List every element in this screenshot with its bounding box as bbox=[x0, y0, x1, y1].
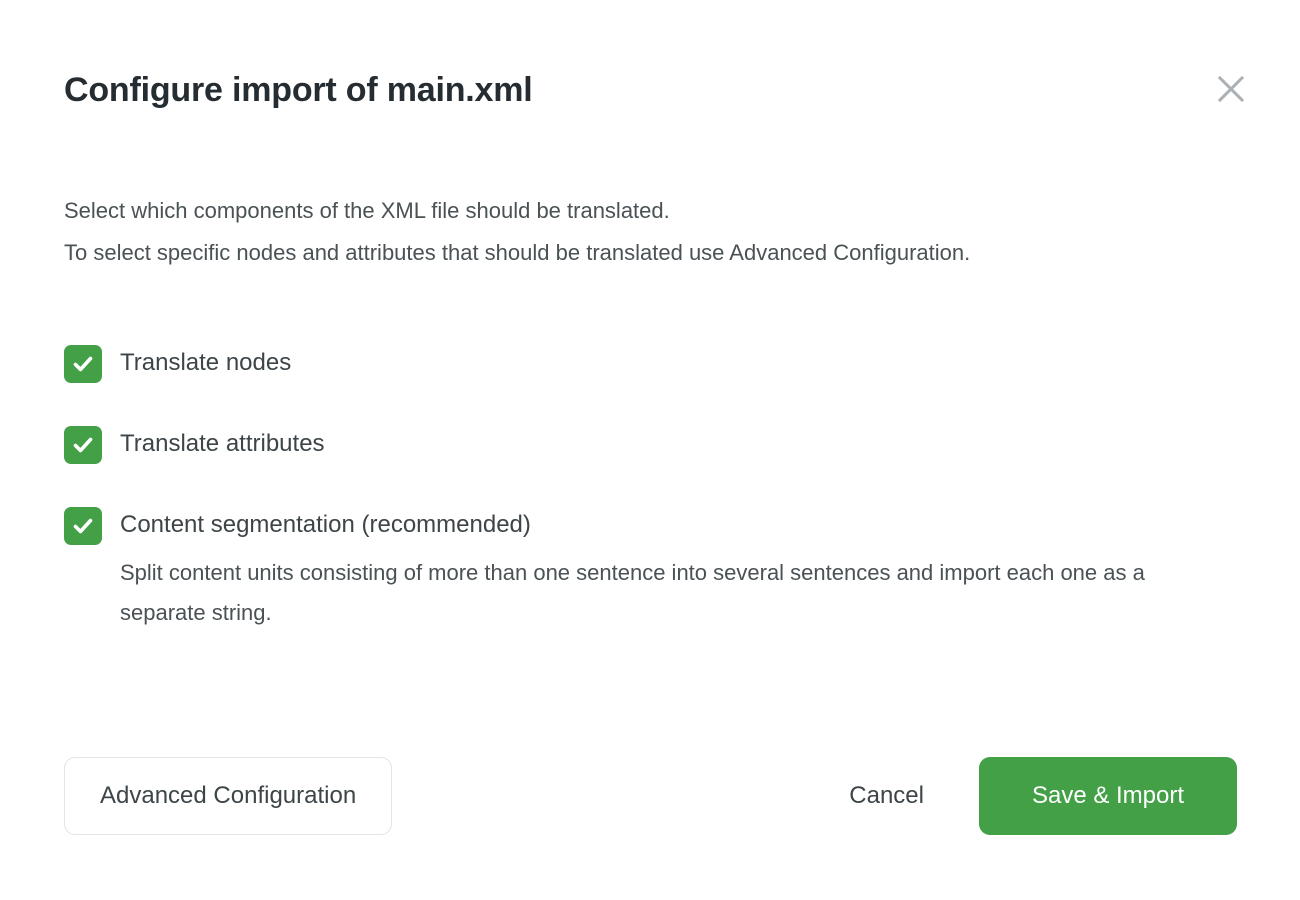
advanced-configuration-button[interactable]: Advanced Configuration bbox=[64, 757, 392, 835]
description-line-2: To select specific nodes and attributes … bbox=[64, 232, 1104, 274]
option-content-segmentation-row[interactable]: Content segmentation (recommended) bbox=[64, 506, 1244, 545]
option-translate-nodes[interactable]: Translate nodes bbox=[64, 344, 1244, 383]
option-label-translate-nodes[interactable]: Translate nodes bbox=[120, 344, 291, 382]
dialog-footer: Advanced Configuration Cancel Save & Imp… bbox=[64, 757, 1237, 835]
page-title: Configure import of main.xml bbox=[64, 66, 1236, 114]
checkbox-content-segmentation[interactable] bbox=[64, 507, 102, 545]
dialog-header: Configure import of main.xml bbox=[64, 66, 1236, 122]
checkbox-translate-nodes[interactable] bbox=[64, 345, 102, 383]
description-line-1: Select which components of the XML file … bbox=[64, 190, 1104, 232]
option-content-segmentation: Content segmentation (recommended) Split… bbox=[64, 506, 1244, 633]
dialog-description: Select which components of the XML file … bbox=[64, 190, 1104, 274]
check-icon bbox=[71, 514, 95, 538]
option-help-content-segmentation: Split content units consisting of more t… bbox=[120, 553, 1220, 633]
close-icon bbox=[1216, 74, 1246, 104]
option-translate-attributes[interactable]: Translate attributes bbox=[64, 425, 1244, 464]
checkbox-translate-attributes[interactable] bbox=[64, 426, 102, 464]
check-icon bbox=[71, 352, 95, 376]
cancel-button[interactable]: Cancel bbox=[849, 757, 924, 835]
save-and-import-button[interactable]: Save & Import bbox=[979, 757, 1237, 835]
check-icon bbox=[71, 433, 95, 457]
footer-actions: Cancel Save & Import bbox=[849, 757, 1237, 835]
option-label-translate-attributes[interactable]: Translate attributes bbox=[120, 425, 325, 463]
option-label-content-segmentation[interactable]: Content segmentation (recommended) bbox=[120, 506, 531, 544]
close-button[interactable] bbox=[1208, 66, 1254, 112]
options-list: Translate nodes Translate attributes bbox=[64, 344, 1244, 633]
configure-import-dialog: Configure import of main.xml Select whic… bbox=[0, 0, 1300, 900]
